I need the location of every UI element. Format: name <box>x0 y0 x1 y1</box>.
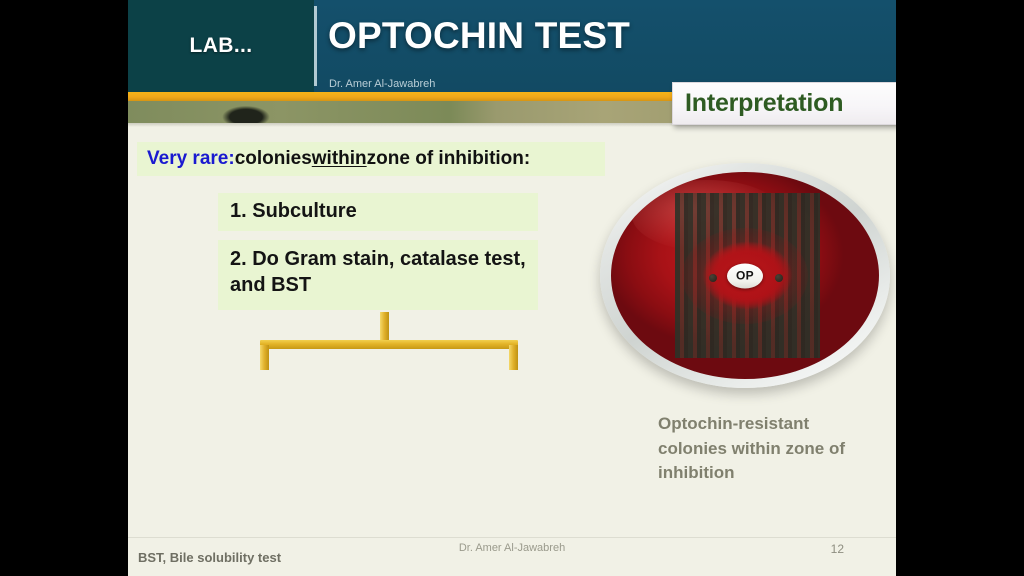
section-label: LAB... <box>128 0 314 92</box>
interpretation-label: Interpretation <box>685 89 843 118</box>
step-box-1: 1. Subculture <box>218 193 538 231</box>
bracket-left-arm <box>260 345 269 370</box>
resistant-colony-right <box>775 274 783 282</box>
step-box-2: 2. Do Gram stain, catalase test, and BST <box>218 240 538 310</box>
step-2-text: 2. Do Gram stain, catalase test, and BST <box>230 248 526 296</box>
interpretation-callout: Interpretation <box>672 82 896 125</box>
optochin-disc: OP <box>727 263 763 288</box>
bracket-connector <box>252 312 522 370</box>
petri-dish-image: OP <box>600 163 890 388</box>
step-1-text: 1. Subculture <box>230 199 357 225</box>
page-title: OPTOCHIN TEST <box>328 15 630 57</box>
banner-underlined-word: within <box>312 148 367 170</box>
bracket-crossbar <box>260 340 518 349</box>
banner-lead: Very rare: <box>147 148 235 170</box>
resistant-colony-left <box>709 274 717 282</box>
footer-author: Dr. Amer Al-Jawabreh <box>128 542 896 554</box>
slide-number: 12 <box>831 542 844 556</box>
image-caption: Optochin-resistant colonies within zone … <box>658 412 878 486</box>
banner-rest-before: colonies <box>235 148 312 170</box>
blood-agar-surface: OP <box>611 172 879 379</box>
header-divider <box>314 6 317 86</box>
presentation-slide: LAB... OPTOCHIN TEST Dr. Amer Al-Jawabre… <box>128 0 896 576</box>
slide-header: LAB... OPTOCHIN TEST Dr. Amer Al-Jawabre… <box>128 0 896 92</box>
bracket-stem <box>380 312 389 342</box>
bracket-right-arm <box>509 345 518 370</box>
banner-statement: Very rare: colonies within zone of inhib… <box>137 142 605 176</box>
header-author: Dr. Amer Al-Jawabreh <box>329 78 435 90</box>
banner-rest-after: zone of inhibition: <box>367 148 531 170</box>
footer-divider <box>128 537 896 538</box>
screen: LAB... OPTOCHIN TEST Dr. Amer Al-Jawabre… <box>0 0 1024 576</box>
